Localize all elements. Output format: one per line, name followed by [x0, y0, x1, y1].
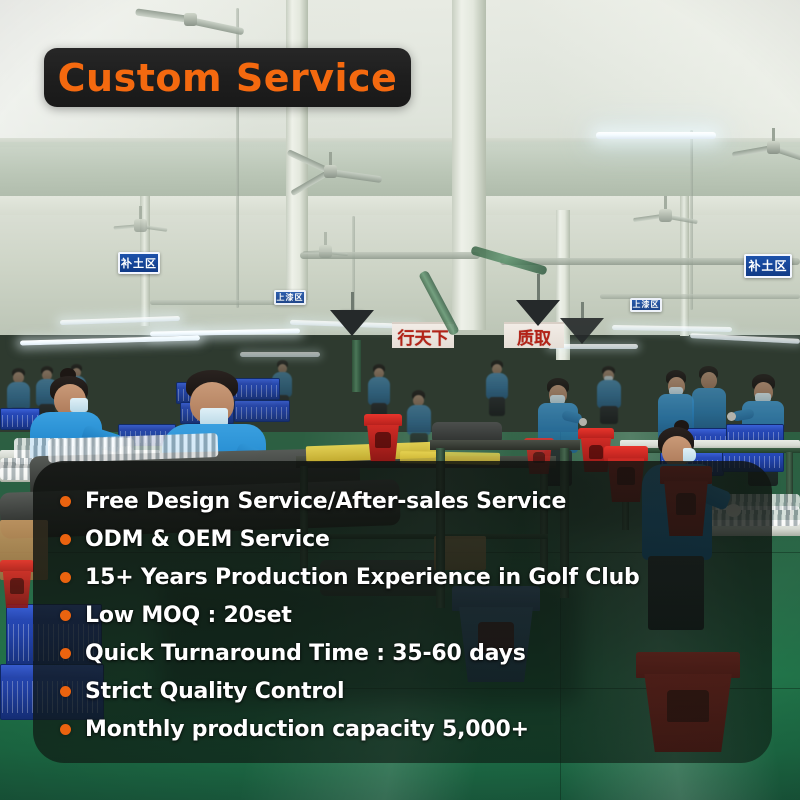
overhead-rig	[352, 340, 361, 392]
bullet-dot-icon	[60, 496, 71, 507]
zone-sign: 补土区	[744, 254, 792, 278]
list-item: Monthly production capacity 5,000+	[33, 710, 772, 748]
feature-label: Low MOQ : 20set	[85, 603, 292, 628]
zone-sign: 上漆区	[274, 290, 306, 305]
wall-banner-text: 行天下	[398, 324, 449, 349]
zone-sign: 补土区	[118, 252, 160, 274]
feature-list: Free Design Service/After-sales Service …	[33, 482, 772, 748]
bullet-dot-icon	[60, 724, 71, 735]
bullet-dot-icon	[60, 610, 71, 621]
list-item: Free Design Service/After-sales Service	[33, 482, 772, 520]
zone-sign-label: 补土区	[748, 260, 787, 272]
fluorescent-light	[596, 132, 716, 139]
feature-label: Monthly production capacity 5,000+	[85, 717, 529, 742]
feature-label: 15+ Years Production Experience in Golf …	[85, 565, 640, 590]
fluorescent-light	[20, 335, 200, 345]
feature-label: Quick Turnaround Time : 35-60 days	[85, 641, 526, 666]
pendant-lamp	[516, 300, 560, 330]
upper-wall-band	[0, 142, 800, 204]
bullet-dot-icon	[60, 534, 71, 545]
bullet-dot-icon	[60, 648, 71, 659]
work-stool	[364, 414, 402, 462]
zone-sign-label: 补土区	[121, 258, 157, 269]
worker	[486, 360, 510, 416]
bullet-dot-icon	[60, 686, 71, 697]
ceiling-fan	[130, 0, 250, 40]
structural-column	[452, 0, 486, 330]
list-item: ODM & OEM Service	[33, 520, 772, 558]
features-overlay-panel: Free Design Service/After-sales Service …	[33, 461, 772, 763]
ceiling-duct	[150, 300, 290, 305]
feature-label: Strict Quality Control	[85, 679, 344, 704]
ceiling-fan	[718, 128, 800, 176]
zone-sign-label: 上漆区	[633, 301, 660, 309]
feature-label: ODM & OEM Service	[85, 527, 330, 552]
title-badge: Custom Service	[44, 48, 411, 107]
zone-sign-label: 上漆区	[277, 294, 304, 302]
fluorescent-light	[240, 352, 320, 357]
list-item: Strict Quality Control	[33, 672, 772, 710]
list-item: Quick Turnaround Time : 35-60 days	[33, 634, 772, 672]
pendant-lamp	[330, 310, 374, 340]
ceiling-fan	[100, 206, 180, 242]
feature-label: Free Design Service/After-sales Service	[85, 489, 566, 514]
work-stool	[0, 560, 34, 608]
ceiling-fan	[290, 232, 360, 262]
bullet-dot-icon	[60, 572, 71, 583]
list-item: 15+ Years Production Experience in Golf …	[33, 558, 772, 596]
pendant-lamp	[560, 318, 604, 346]
zone-sign: 上漆区	[630, 298, 662, 312]
ceiling-fan	[620, 196, 710, 236]
list-item: Low MOQ : 20set	[33, 596, 772, 634]
page-title: Custom Service	[58, 56, 398, 100]
poster-canvas: 行天下 质取 补土区 上漆区 补土区 上漆区 补土区	[0, 0, 800, 800]
work-bench	[430, 440, 580, 450]
worker	[596, 366, 622, 424]
ceiling-fan	[270, 152, 390, 202]
